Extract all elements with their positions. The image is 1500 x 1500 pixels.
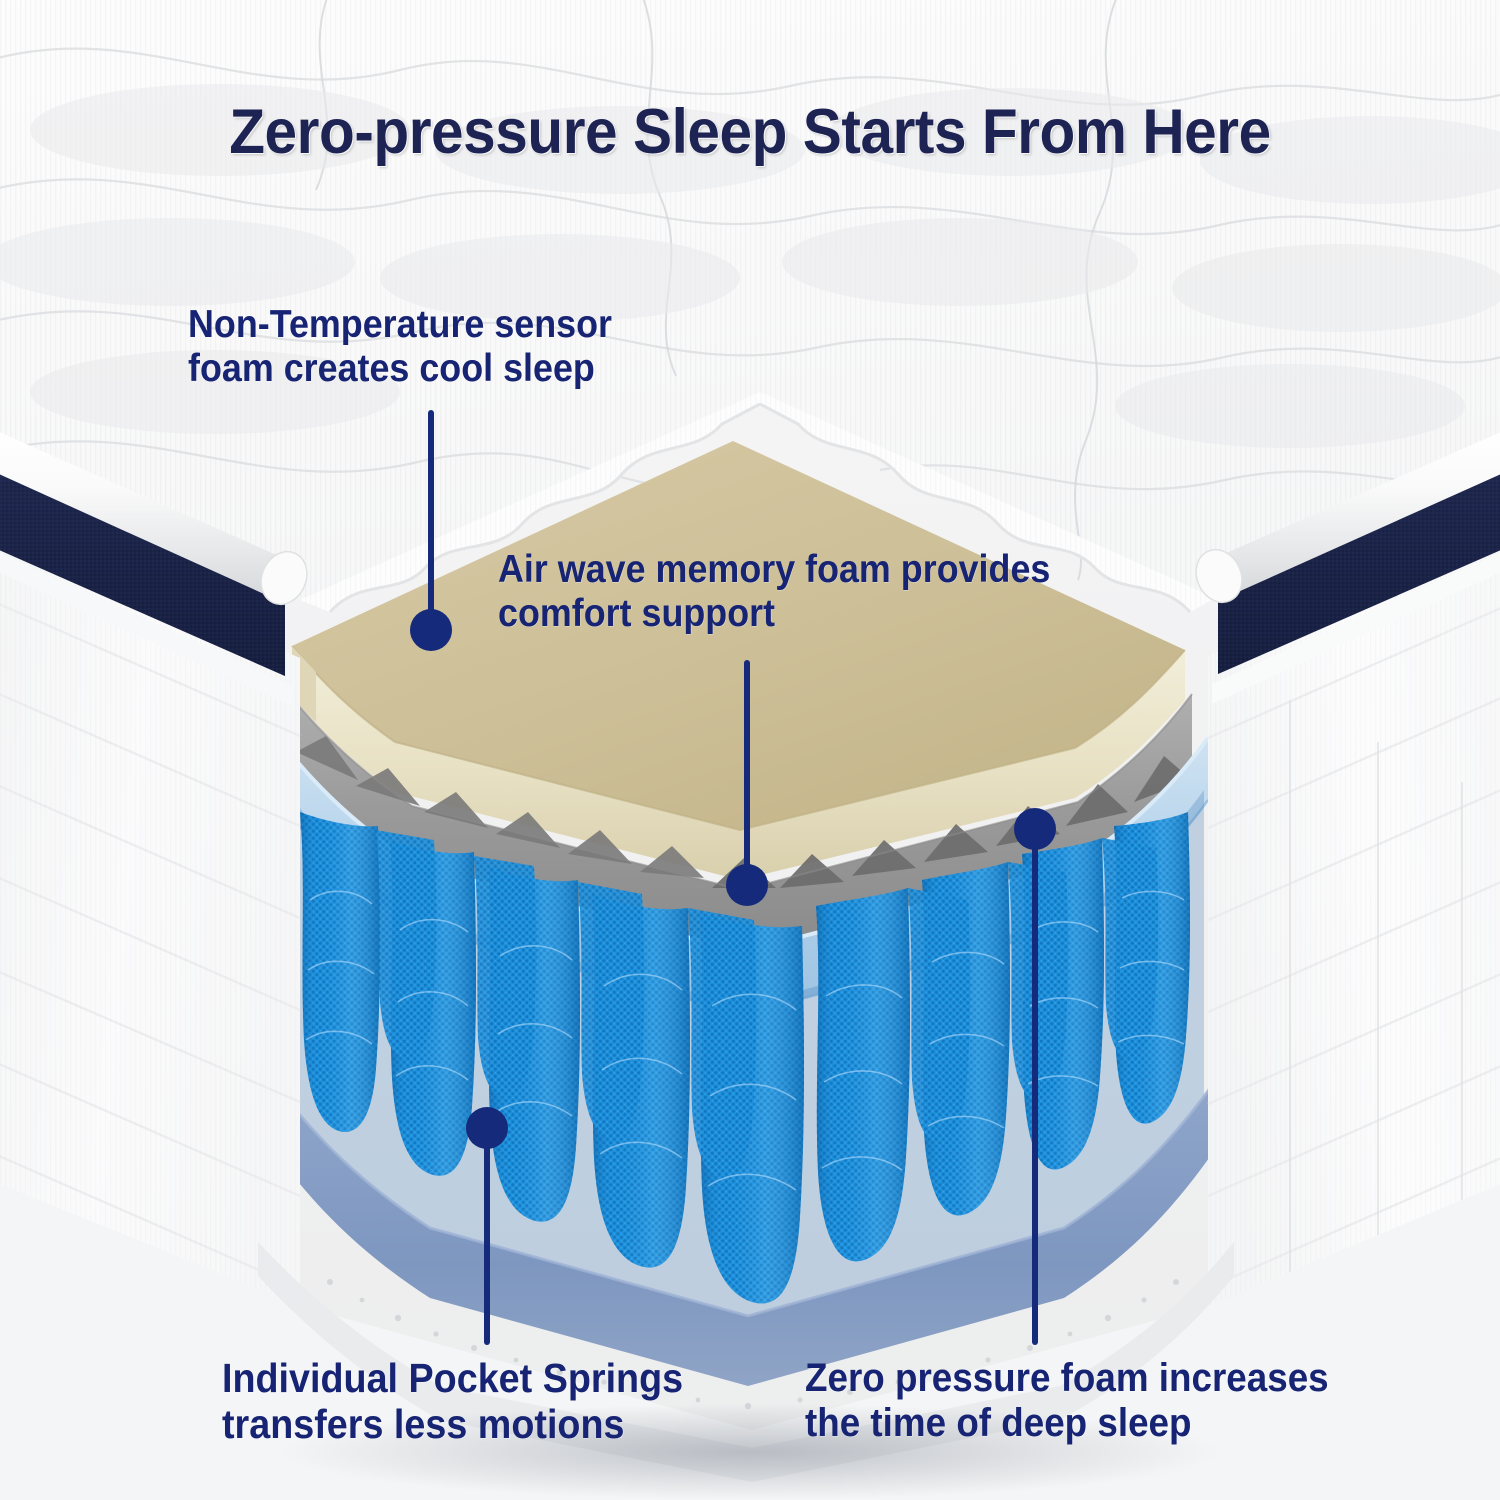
leader-dot-springs bbox=[466, 1107, 508, 1149]
leader-dot-cool bbox=[410, 609, 452, 651]
infographic-canvas: Zero-pressure Sleep Starts From Here Non… bbox=[0, 0, 1500, 1500]
leader-dot-airwave bbox=[726, 864, 768, 906]
callout-label-air-wave-memory-foam: Air wave memory foam provides comfort su… bbox=[498, 548, 1050, 635]
mattress-cutaway-illustration bbox=[0, 0, 1500, 1500]
leader-dot-zerofoam bbox=[1014, 808, 1056, 850]
callout-label-pocket-springs: Individual Pocket Springs transfers less… bbox=[222, 1356, 683, 1448]
callout-label-zero-pressure-foam: Zero pressure foam increases the time of… bbox=[805, 1356, 1329, 1446]
callout-label-cool-sleep: Non-Temperature sensor foam creates cool… bbox=[188, 303, 612, 390]
